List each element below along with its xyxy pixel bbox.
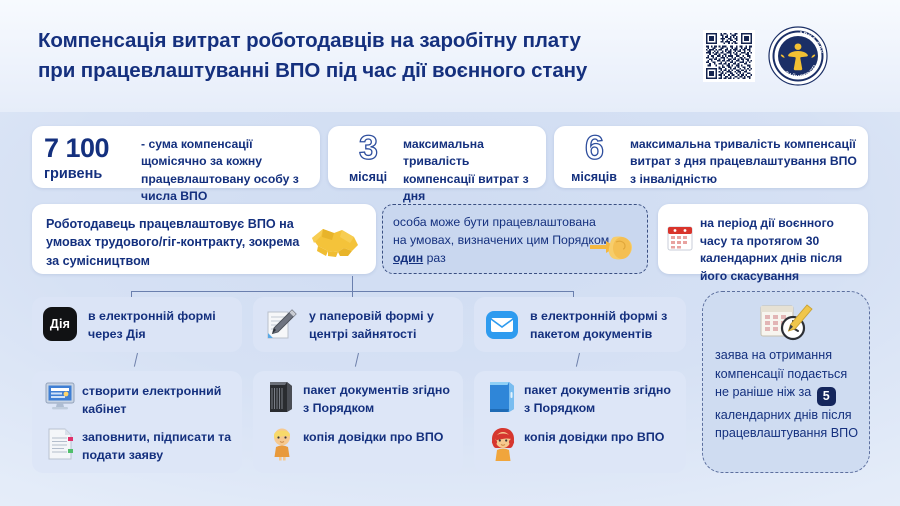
condition-once-highlight: один	[393, 251, 423, 265]
method-card-email[interactable]: в електронній формі з пакетом документів	[474, 297, 686, 352]
method-diia-label: в електронній формі через Дія	[88, 308, 234, 344]
method-card-diia[interactable]: Дія в електронній формі через Дія	[32, 297, 242, 352]
condition-card-period: на період дії воєнного часу та протягом …	[658, 204, 868, 274]
calendar-clock-icon	[757, 302, 815, 351]
title-line-1: Компенсація витрат роботодавців на зароб…	[38, 26, 678, 56]
page-title: Компенсація витрат роботодавців на зароб…	[38, 26, 678, 87]
condition-period-text: на період дії воєнного часу та протягом …	[700, 215, 862, 285]
person-boy-icon	[267, 427, 297, 466]
deadline-days-badge: 5	[817, 387, 836, 406]
books-stack-icon	[265, 379, 297, 418]
pointing-hand-icon	[586, 231, 636, 270]
detail-diia-text-2: заповнити, підписати та подати заяву	[82, 429, 238, 465]
stat-card-duration-6: 6 місяців максимальна тривалість компенс…	[554, 126, 868, 188]
stat-6-figure: 6 місяців	[562, 132, 626, 184]
blue-book-icon	[486, 379, 518, 418]
stat-amount-text: - сума компенсації щомісячно за кожну пр…	[141, 136, 311, 205]
pencil-paper-icon	[263, 308, 297, 347]
person-girl-icon	[488, 427, 518, 466]
stat-amount-unit: гривень	[44, 167, 136, 182]
connector-vertical-main	[352, 276, 353, 292]
condition-card-employer: Роботодавець працевлаштовує ВПО на умова…	[32, 204, 376, 274]
qr-code-icon[interactable]	[703, 30, 755, 82]
stat-amount-number: 7 100	[44, 135, 136, 162]
connector-tick-paper	[355, 353, 360, 367]
handshake-icon	[308, 218, 364, 267]
condition-employer-text: Роботодавець працевлаштовує ВПО на умова…	[46, 215, 301, 270]
stat-card-amount: 7 100 гривень - сума компенсації щомісяч…	[32, 126, 320, 188]
infographic-page: Компенсація витрат роботодавців на зароб…	[0, 0, 900, 506]
stat-card-duration-3: 3 місяці максимальна тривалість компенса…	[328, 126, 546, 188]
stat-amount-figure: 7 100 гривень	[44, 135, 136, 182]
email-envelope-icon	[485, 308, 519, 347]
detail-diia-text-1: створити електронний кабінет	[82, 383, 234, 419]
computer-cabinet-icon	[44, 381, 76, 416]
connector-tick-email	[576, 353, 581, 367]
detail-paper-text-1: пакет документів згідно з Порядком	[303, 382, 455, 418]
stat-3-number: 3	[337, 132, 399, 164]
condition-once-text: особа може бути працевлаштована на умова…	[393, 214, 611, 267]
stat-3-unit: місяці	[337, 171, 399, 184]
title-line-2: при працевлаштуванні ВПО під час дії воє…	[38, 56, 678, 86]
detail-card-email: пакет документів згідно з Порядком копія…	[474, 371, 686, 473]
diia-app-icon[interactable]: Дія	[43, 307, 77, 341]
detail-email-text-1: пакет документів згідно з Порядком	[524, 382, 680, 418]
method-email-label: в електронній формі з пакетом документів	[530, 308, 682, 344]
detail-card-diia: створити електронний кабінет заповнити, …	[32, 371, 242, 473]
method-card-paper[interactable]: у паперовій формі у центрі зайнятості	[253, 297, 463, 352]
deadline-panel: заява на отримання компенсації подається…	[702, 291, 870, 473]
calendar-icon	[666, 224, 694, 257]
stat-6-number: 6	[562, 132, 626, 164]
stat-6-text: максимальна тривалість компенсації витра…	[630, 136, 862, 188]
detail-card-paper: пакет документів згідно з Порядком копія…	[253, 371, 463, 473]
document-form-icon	[46, 427, 76, 466]
deadline-text: заява на отримання компенсації подається…	[715, 346, 863, 443]
detail-paper-text-2: копія довідки про ВПО	[303, 429, 453, 447]
method-paper-label: у паперовій формі у центрі зайнятості	[309, 308, 457, 344]
stat-3-figure: 3 місяці	[337, 132, 399, 184]
detail-email-text-2: копія довідки про ВПО	[524, 429, 674, 447]
header: Компенсація витрат роботодавців на зароб…	[0, 0, 900, 112]
stat-6-unit: місяців	[562, 171, 626, 184]
connector-tick-diia	[134, 353, 139, 367]
condition-card-once: особа може бути працевлаштована на умова…	[382, 204, 648, 274]
employment-service-logo: ДЕРЖАВНА СЛУЖБА ЗАЙНЯТОСТІ	[768, 26, 828, 86]
